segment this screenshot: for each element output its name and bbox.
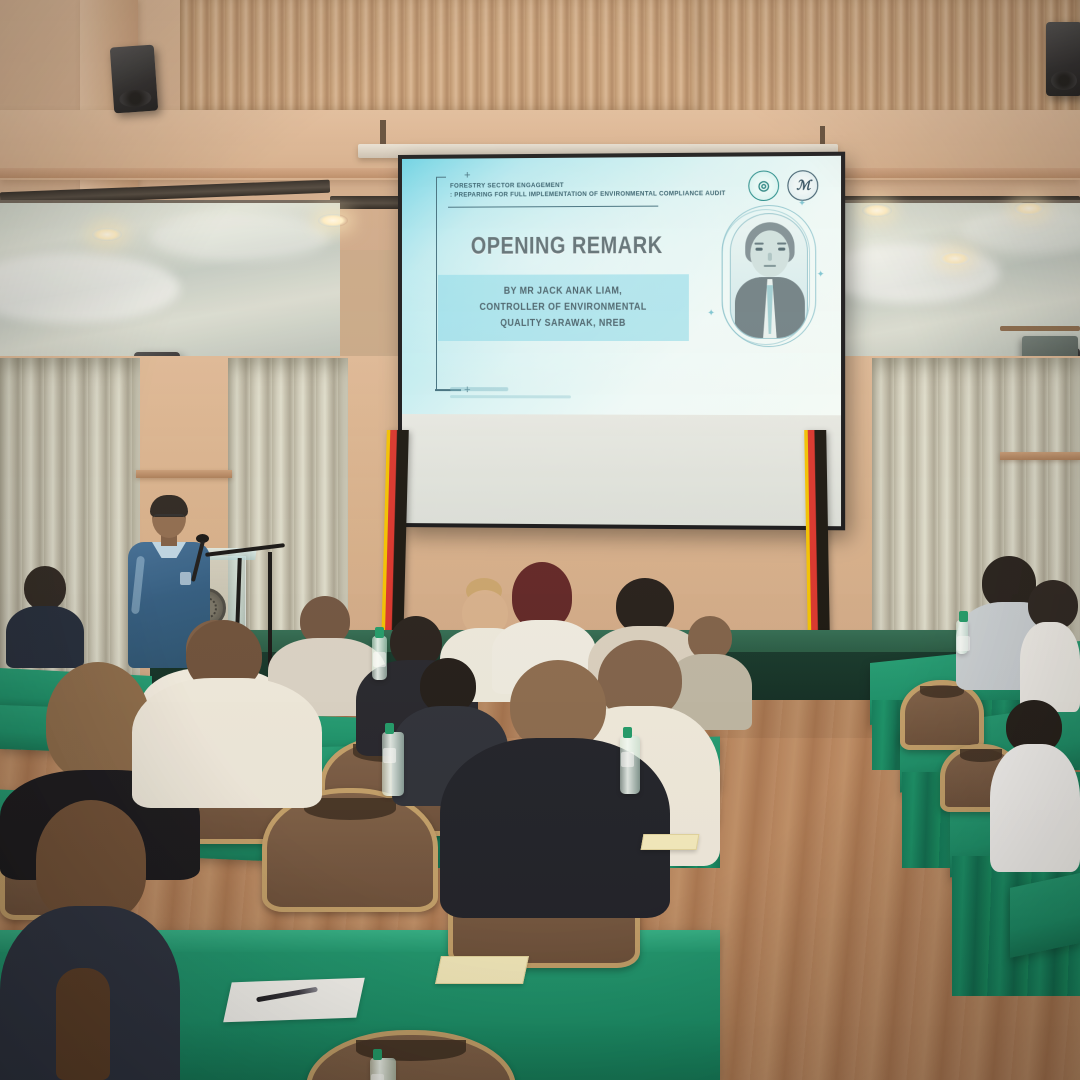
name-card (641, 834, 700, 850)
screen-blank-area (402, 414, 841, 526)
slide-subtitle-line-2: CONTROLLER OF ENVIRONMENTAL (462, 299, 664, 315)
downlight (862, 204, 892, 217)
portrait-brow (754, 243, 763, 245)
sparkle-icon: ✦ (707, 309, 715, 318)
downlight (92, 228, 122, 241)
downlight (1014, 202, 1044, 215)
water-bottle (372, 636, 387, 680)
attendee (6, 566, 84, 662)
projection-screen: + + FORESTRY SECTOR ENGAGEMENT : PREPARI… (398, 152, 845, 531)
slide-header-line-1: FORESTRY SECTOR ENGAGEMENT (450, 181, 730, 190)
wall-speaker-top-left (110, 45, 158, 114)
projector-mount-arm (1000, 326, 1080, 331)
slide-subtitle-box: BY MR JACK ANAK LIAM, CONTROLLER OF ENVI… (438, 274, 689, 341)
water-bottle (620, 736, 640, 794)
water-bottle (370, 1058, 396, 1080)
name-card (435, 956, 529, 984)
downlight (318, 214, 348, 227)
fluted-wood-panel-left (180, 0, 700, 118)
portrait-photo (730, 213, 808, 339)
attendee (1020, 580, 1080, 700)
slide-portrait: ✦ ✦ ✦ (724, 211, 812, 343)
note-paper (223, 978, 365, 1023)
slide-title-text: OPENING REMARK (471, 232, 663, 261)
portrait-brow (777, 242, 786, 244)
portrait-eye (755, 248, 762, 251)
portrait-nose (768, 253, 772, 261)
wall-chair-rail-right (1000, 452, 1080, 460)
attendee (132, 620, 322, 800)
mirror-band-left (0, 200, 340, 360)
slide-header: FORESTRY SECTOR ENGAGEMENT : PREPARING F… (450, 181, 754, 199)
sarawak-flag-right (804, 430, 830, 635)
water-bottle (382, 732, 404, 796)
presentation-slide: + + FORESTRY SECTOR ENGAGEMENT : PREPARI… (402, 156, 841, 415)
conference-hall-photo: + + FORESTRY SECTOR ENGAGEMENT : PREPARI… (0, 0, 1080, 1080)
attendee (990, 700, 1080, 860)
sparkle-icon: ✦ (798, 199, 806, 208)
eyeglasses-icon (153, 514, 185, 522)
nreb-logo-icon: ◎ (748, 170, 779, 201)
slide-tick-icon: + (464, 171, 470, 182)
downlight (940, 252, 970, 265)
attendee-ponytail (56, 968, 110, 1080)
screen-hanger-left (380, 120, 386, 146)
slide-subtitle-line-3: QUALITY SARAWAK, NREB (462, 315, 664, 331)
wall-speaker-top-right (1046, 22, 1080, 96)
wall-chair-rail-left (136, 470, 232, 478)
water-bottle (956, 620, 968, 654)
portrait-mouth (764, 265, 776, 267)
chair (306, 1030, 516, 1080)
chair (900, 680, 984, 750)
slide-logo-group: ◎ ℳ (748, 170, 818, 201)
presenter-badge (180, 572, 191, 585)
table-row-right-4 (1010, 872, 1080, 958)
portrait-eye (778, 248, 785, 251)
slide-footer-note (450, 387, 571, 398)
agency-logo-icon: ℳ (787, 170, 818, 201)
slide-subtitle-line-1: BY MR JACK ANAK LIAM, (462, 283, 664, 299)
sparkle-icon: ✦ (817, 270, 825, 279)
